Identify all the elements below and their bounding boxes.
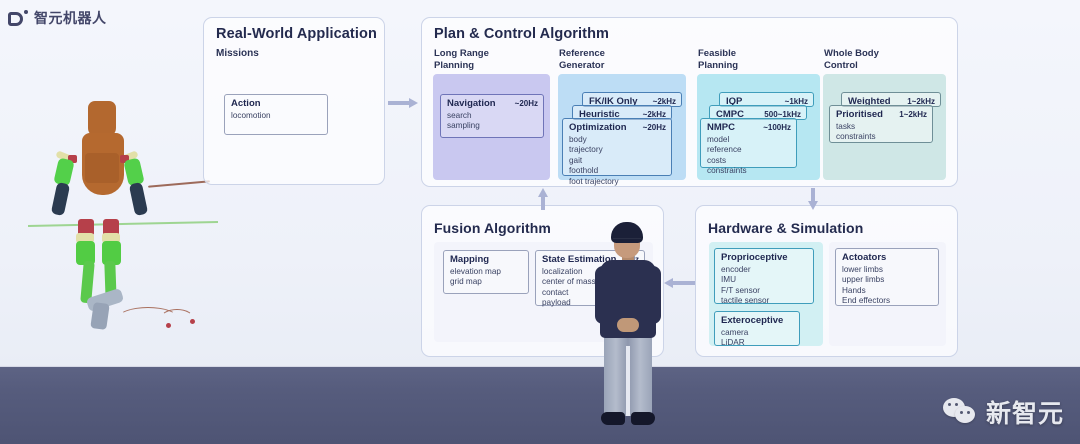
opt-item-0: body bbox=[569, 135, 587, 144]
label-long-range-planning: Long Range Planning bbox=[434, 48, 489, 71]
card-items-proprioceptive: encoder IMU F/T sensor tactile sensor bbox=[721, 265, 769, 307]
humanoid-robot-simulation bbox=[40, 95, 205, 340]
card-action: Action locomotion bbox=[224, 94, 328, 135]
opt-item-3: foothold bbox=[569, 166, 598, 175]
card-head-optimization: Optimization bbox=[569, 122, 627, 133]
presenter-figure bbox=[583, 222, 671, 437]
card-proprioceptive: Proprioceptive encoder IMU F/T sensor ta… bbox=[714, 248, 814, 304]
card-head-navigation: Navigation bbox=[447, 98, 496, 109]
prop-item-1: IMU bbox=[721, 275, 736, 284]
label-feasible-planning: Feasible Planning bbox=[698, 48, 738, 71]
prop-item-2: F/T sensor bbox=[721, 286, 760, 295]
map-item-1: grid map bbox=[450, 277, 482, 286]
card-navigation: Navigation ~20Hz search sampling bbox=[440, 94, 544, 138]
nav-item-0: search bbox=[447, 111, 472, 120]
sim-ground-line bbox=[28, 221, 218, 227]
act-item-0: lower limbs bbox=[842, 265, 883, 274]
brand-name: 智元机器人 bbox=[34, 8, 107, 28]
label-fp-2: Planning bbox=[698, 60, 738, 71]
panel-plan-control-algorithm: Plan & Control Algorithm Long Range Plan… bbox=[421, 17, 958, 187]
card-head-mapping: Mapping bbox=[450, 254, 489, 265]
nmpc-item-1: reference bbox=[707, 145, 742, 154]
card-items-optimization: body trajectory gait foothold foot traje… bbox=[569, 135, 619, 187]
act-item-1: upper limbs bbox=[842, 275, 884, 284]
card-items-nmpc: model reference costs constraints bbox=[707, 135, 747, 177]
group-whole-body-control: Weighted 1~2kHz Prioritised 1~2kHz tasks… bbox=[823, 74, 946, 180]
se-item-3: payload bbox=[542, 298, 571, 307]
map-item-0: elevation map bbox=[450, 267, 501, 276]
card-items-actuators: lower limbs upper limbs Hands End effect… bbox=[842, 265, 890, 307]
card-head-exteroceptive: Exteroceptive bbox=[721, 315, 783, 326]
panel-title-fusion: Fusion Algorithm bbox=[434, 220, 551, 236]
label-wbc-2: Control bbox=[824, 60, 858, 71]
card-hz-navigation: ~20Hz bbox=[515, 99, 538, 108]
card-hz-nmpc: ~100Hz bbox=[763, 123, 791, 132]
group-long-range-planning: Navigation ~20Hz search sampling bbox=[433, 74, 550, 180]
prop-item-0: encoder bbox=[721, 265, 751, 274]
card-items-prioritised: tasks constraints bbox=[836, 122, 876, 143]
stage-floor bbox=[0, 367, 1080, 444]
label-missions: Missions bbox=[216, 48, 259, 60]
prio-item-0: tasks bbox=[836, 122, 855, 131]
card-items-action: locomotion bbox=[231, 111, 271, 121]
watermark-text: 新智元 bbox=[986, 394, 1064, 430]
opt-item-1: trajectory bbox=[569, 145, 603, 154]
card-hz-optimization: ~20Hz bbox=[643, 123, 666, 132]
label-rg-1: Reference bbox=[559, 48, 605, 59]
label-wbc-1: Whole Body bbox=[824, 48, 879, 59]
arrow-plan-to-hardware bbox=[808, 188, 818, 211]
se-item-0: localization bbox=[542, 267, 583, 276]
wechat-icon bbox=[943, 398, 979, 426]
prio-item-1: constraints bbox=[836, 132, 876, 141]
card-head-nmpc: NMPC bbox=[707, 122, 735, 133]
panel-real-world-application: Real-World Application Missions Action l… bbox=[203, 17, 385, 185]
label-whole-body-control: Whole Body Control bbox=[824, 48, 879, 71]
wechat-watermark: 新智元 bbox=[943, 394, 1064, 430]
label-fp-1: Feasible bbox=[698, 48, 736, 59]
nmpc-item-3: constraints bbox=[707, 166, 747, 175]
ext-item-0: camera bbox=[721, 328, 748, 337]
card-actuators: Actoators lower limbs upper limbs Hands … bbox=[835, 248, 939, 306]
card-items-exteroceptive: camera LiDAR bbox=[721, 328, 748, 349]
act-item-2: Hands bbox=[842, 286, 866, 295]
label-lrp-2: Planning bbox=[434, 60, 474, 71]
label-lrp-1: Long Range bbox=[434, 48, 489, 59]
card-head-actuators: Actoators bbox=[842, 252, 886, 263]
card-nmpc: NMPC ~100Hz model reference costs constr… bbox=[700, 118, 797, 168]
prop-item-3: tactile sensor bbox=[721, 296, 769, 305]
nmpc-item-2: costs bbox=[707, 156, 726, 165]
group-feasible-planning: IQP ~1kHz CMPC 500~1kHz NMPC ~100Hz mode… bbox=[697, 74, 820, 180]
arrow-realworld-to-plan bbox=[388, 98, 420, 108]
opt-item-4: foot trajectory bbox=[569, 177, 619, 186]
card-items-mapping: elevation map grid map bbox=[450, 267, 501, 288]
card-head-prioritised: Prioritised bbox=[836, 109, 883, 120]
panel-hardware-simulation: Hardware & Simulation Proprioceptive enc… bbox=[695, 205, 958, 357]
card-head-proprioceptive: Proprioceptive bbox=[721, 252, 788, 263]
brand-logo: 智元机器人 bbox=[8, 8, 107, 28]
card-hz-prioritised: 1~2kHz bbox=[899, 110, 927, 119]
act-item-3: End effectors bbox=[842, 296, 890, 305]
nmpc-item-0: model bbox=[707, 135, 729, 144]
brand-logo-icon bbox=[8, 10, 28, 26]
group-reference-generator: FK/IK Only ~2kHz Heuristic ~2kHz Optimiz… bbox=[558, 74, 686, 180]
arrow-fusion-to-plan bbox=[538, 188, 548, 211]
label-rg-2: Generator bbox=[559, 60, 604, 71]
card-exteroceptive: Exteroceptive camera LiDAR bbox=[714, 311, 800, 346]
card-items-navigation: search sampling bbox=[447, 111, 480, 132]
label-reference-generator: Reference Generator bbox=[559, 48, 605, 71]
ext-item-1: LiDAR bbox=[721, 338, 745, 347]
card-prioritised: Prioritised 1~2kHz tasks constraints bbox=[829, 105, 933, 143]
panel-title-hardware: Hardware & Simulation bbox=[708, 220, 863, 236]
se-item-2: contact bbox=[542, 288, 568, 297]
opt-item-2: gait bbox=[569, 156, 582, 165]
nav-item-1: sampling bbox=[447, 121, 480, 130]
panel-title-real-world: Real-World Application bbox=[216, 26, 377, 42]
card-mapping: Mapping elevation map grid map bbox=[443, 250, 529, 294]
panel-title-plan-control: Plan & Control Algorithm bbox=[434, 26, 609, 42]
card-optimization: Optimization ~20Hz body trajectory gait … bbox=[562, 118, 672, 176]
card-head-action: Action bbox=[231, 98, 261, 109]
